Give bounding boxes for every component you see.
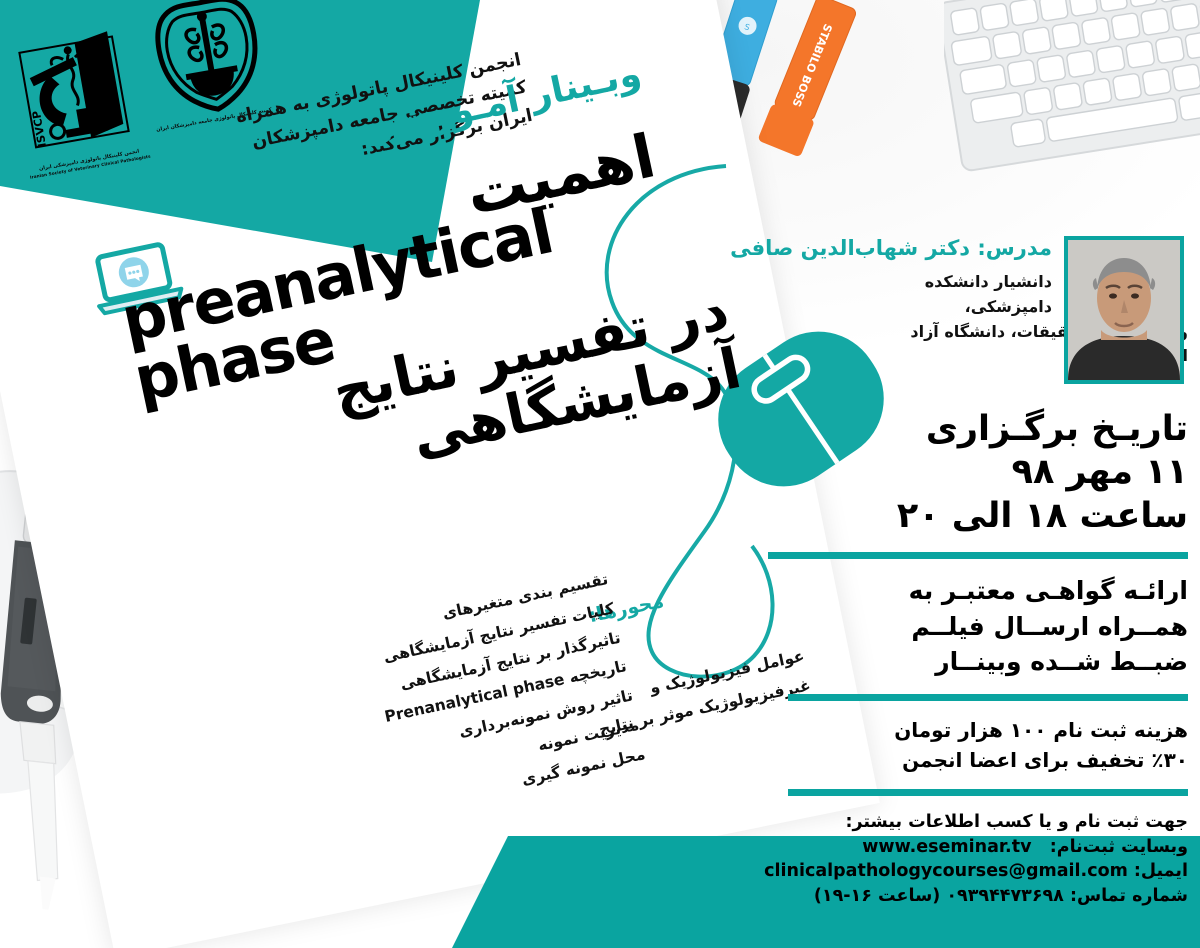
speaker-name: مدرس: دکتر شهاب‌الدین صافی bbox=[908, 236, 1052, 260]
speaker-affiliation: دانشیار دانشکده دامپزشکی، واحد علوم و تح… bbox=[908, 270, 1052, 369]
fee-block: هزینه ثبت نام ۱۰۰ هزار تومان ٪۳۰ تخفیف ب… bbox=[768, 715, 1188, 775]
speaker-affiliation-line1: دانشیار دانشکده دامپزشکی، bbox=[908, 270, 1052, 320]
contact-phone-label: شماره تماس: bbox=[1070, 886, 1188, 906]
event-time-value: ساعت ۱۸ الی ۲۰ bbox=[768, 495, 1188, 538]
certificate-line3: ضبــط شــده وبینــار bbox=[768, 644, 1188, 680]
contact-block: جهت ثبت نام و یا کسب اطلاعات بیشتر: وبسا… bbox=[768, 810, 1188, 909]
divider-3 bbox=[788, 789, 1188, 796]
speaker-photo bbox=[1064, 236, 1184, 384]
certificate-line2: همــراه ارســال فیلــم bbox=[768, 609, 1188, 645]
contact-website-label: وبسایت ثبت‌نام: bbox=[1050, 837, 1188, 857]
fee-line2: ٪۳۰ تخفیف برای اعضا انجمن bbox=[768, 745, 1188, 775]
certificate-line1: ارائـه گواهـی معتبـر به bbox=[768, 573, 1188, 609]
divider-1 bbox=[768, 552, 1188, 559]
contact-email-row: ایمیل: clinicalpathologycourses@gmail.co… bbox=[768, 859, 1188, 884]
isvcp-logo: ISVCP انجمن کلینیکال پاتولوژی دامپزشکی ا… bbox=[4, 21, 154, 181]
keyboard-prop bbox=[944, 0, 1200, 186]
contact-phone-value: ۰۹۳۹۴۴۷۳۶۹۸ (ساعت ۱۶-۱۹) bbox=[814, 886, 1064, 906]
webinar-poster: S STABILO BOSS bbox=[0, 0, 1200, 948]
contact-email-value[interactable]: clinicalpathologycourses@gmail.com bbox=[764, 859, 1128, 884]
avatar bbox=[1068, 240, 1180, 380]
contact-website-value[interactable]: www.eseminar.tv bbox=[862, 835, 1031, 860]
contact-phone-row: شماره تماس: ۰۹۳۹۴۴۷۳۶۹۸ (ساعت ۱۶-۱۹) bbox=[768, 884, 1188, 909]
info-panel: مدرس: دکتر شهاب‌الدین صافی دانشیار دانشک… bbox=[768, 190, 1188, 909]
event-date-block: تاریـخ برگـزاری ۱۱ مهر ۹۸ ساعت ۱۸ الی ۲۰ bbox=[768, 408, 1188, 538]
fee-line1: هزینه ثبت نام ۱۰۰ هزار تومان bbox=[768, 715, 1188, 745]
speaker-row: مدرس: دکتر شهاب‌الدین صافی دانشیار دانشک… bbox=[768, 236, 1188, 386]
certificate-block: ارائـه گواهـی معتبـر به همــراه ارســال … bbox=[768, 573, 1188, 680]
contact-website-row: وبسایت ثبت‌نام: www.eseminar.tv bbox=[768, 835, 1188, 860]
contact-intro: جهت ثبت نام و یا کسب اطلاعات بیشتر: bbox=[768, 810, 1188, 835]
contact-email-label: ایمیل: bbox=[1134, 861, 1188, 881]
microscope-caduceus-icon: ISVCP bbox=[4, 21, 152, 167]
divider-2 bbox=[788, 694, 1188, 701]
event-date-value: ۱۱ مهر ۹۸ bbox=[768, 451, 1188, 494]
event-date-label: تاریـخ برگـزاری bbox=[768, 408, 1188, 451]
